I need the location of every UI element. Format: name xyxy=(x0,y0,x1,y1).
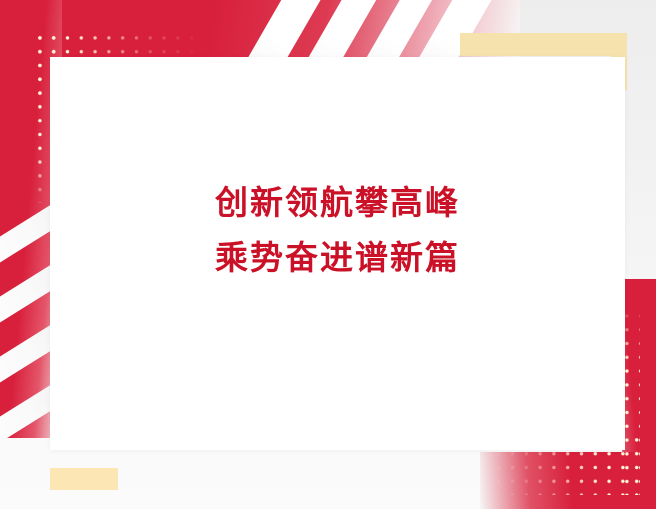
headline-line-2: 乘势奋进谱新篇 xyxy=(50,230,625,285)
slide-canvas: 创新领航攀高峰 乘势奋进谱新篇 xyxy=(0,0,656,509)
headline-block: 创新领航攀高峰 乘势奋进谱新篇 xyxy=(50,175,625,285)
headline-line-1: 创新领航攀高峰 xyxy=(50,175,625,230)
gold-bar-accent xyxy=(50,468,118,490)
content-card: 创新领航攀高峰 乘势奋进谱新篇 xyxy=(50,57,625,450)
